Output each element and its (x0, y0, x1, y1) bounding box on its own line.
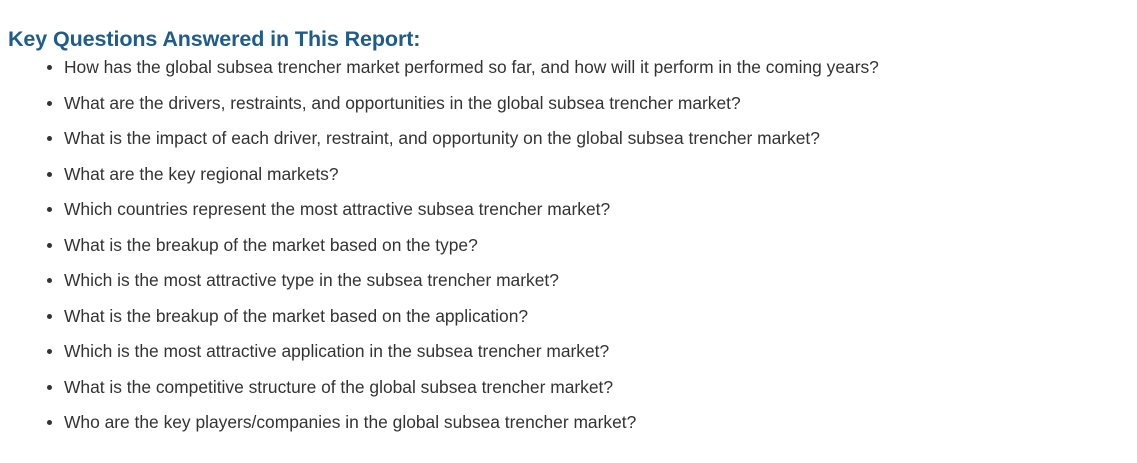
question-text: Which countries represent the most attra… (64, 199, 610, 219)
key-questions-list: How has the global subsea trencher marke… (0, 54, 1137, 445)
question-text: What are the drivers, restraints, and op… (64, 93, 741, 113)
list-item: What is the breakup of the market based … (0, 232, 1137, 268)
list-item: Which is the most attractive application… (0, 338, 1137, 374)
list-item: What are the drivers, restraints, and op… (0, 90, 1137, 126)
question-text: What is the competitive structure of the… (64, 377, 613, 397)
bullet-dot-icon (47, 136, 52, 141)
question-text: What is the breakup of the market based … (64, 306, 528, 326)
bullet-dot-icon (47, 172, 52, 177)
question-text: What is the breakup of the market based … (64, 235, 478, 255)
list-item: Which is the most attractive type in the… (0, 267, 1137, 303)
question-text: What is the impact of each driver, restr… (64, 128, 820, 148)
question-text: What are the key regional markets? (64, 164, 339, 184)
bullet-dot-icon (47, 420, 52, 425)
question-text: Which is the most attractive application… (64, 341, 609, 361)
bullet-dot-icon (47, 207, 52, 212)
list-item: What is the breakup of the market based … (0, 303, 1137, 339)
question-text: Who are the key players/companies in the… (64, 412, 636, 432)
bullet-dot-icon (47, 385, 52, 390)
list-item: What are the key regional markets? (0, 161, 1137, 197)
question-text: Which is the most attractive type in the… (64, 270, 559, 290)
list-item: What is the competitive structure of the… (0, 374, 1137, 410)
report-key-questions-section: Key Questions Answered in This Report: H… (0, 0, 1137, 463)
bullet-dot-icon (47, 314, 52, 319)
question-text: How has the global subsea trencher marke… (64, 57, 879, 77)
bullet-dot-icon (47, 349, 52, 354)
list-item: How has the global subsea trencher marke… (0, 54, 1137, 90)
list-item: What is the impact of each driver, restr… (0, 125, 1137, 161)
bullet-dot-icon (47, 278, 52, 283)
list-item: Who are the key players/companies in the… (0, 409, 1137, 445)
page-title: Key Questions Answered in This Report: (8, 26, 420, 52)
bullet-dot-icon (47, 243, 52, 248)
bullet-dot-icon (47, 101, 52, 106)
bullet-dot-icon (47, 65, 52, 70)
list-item: Which countries represent the most attra… (0, 196, 1137, 232)
